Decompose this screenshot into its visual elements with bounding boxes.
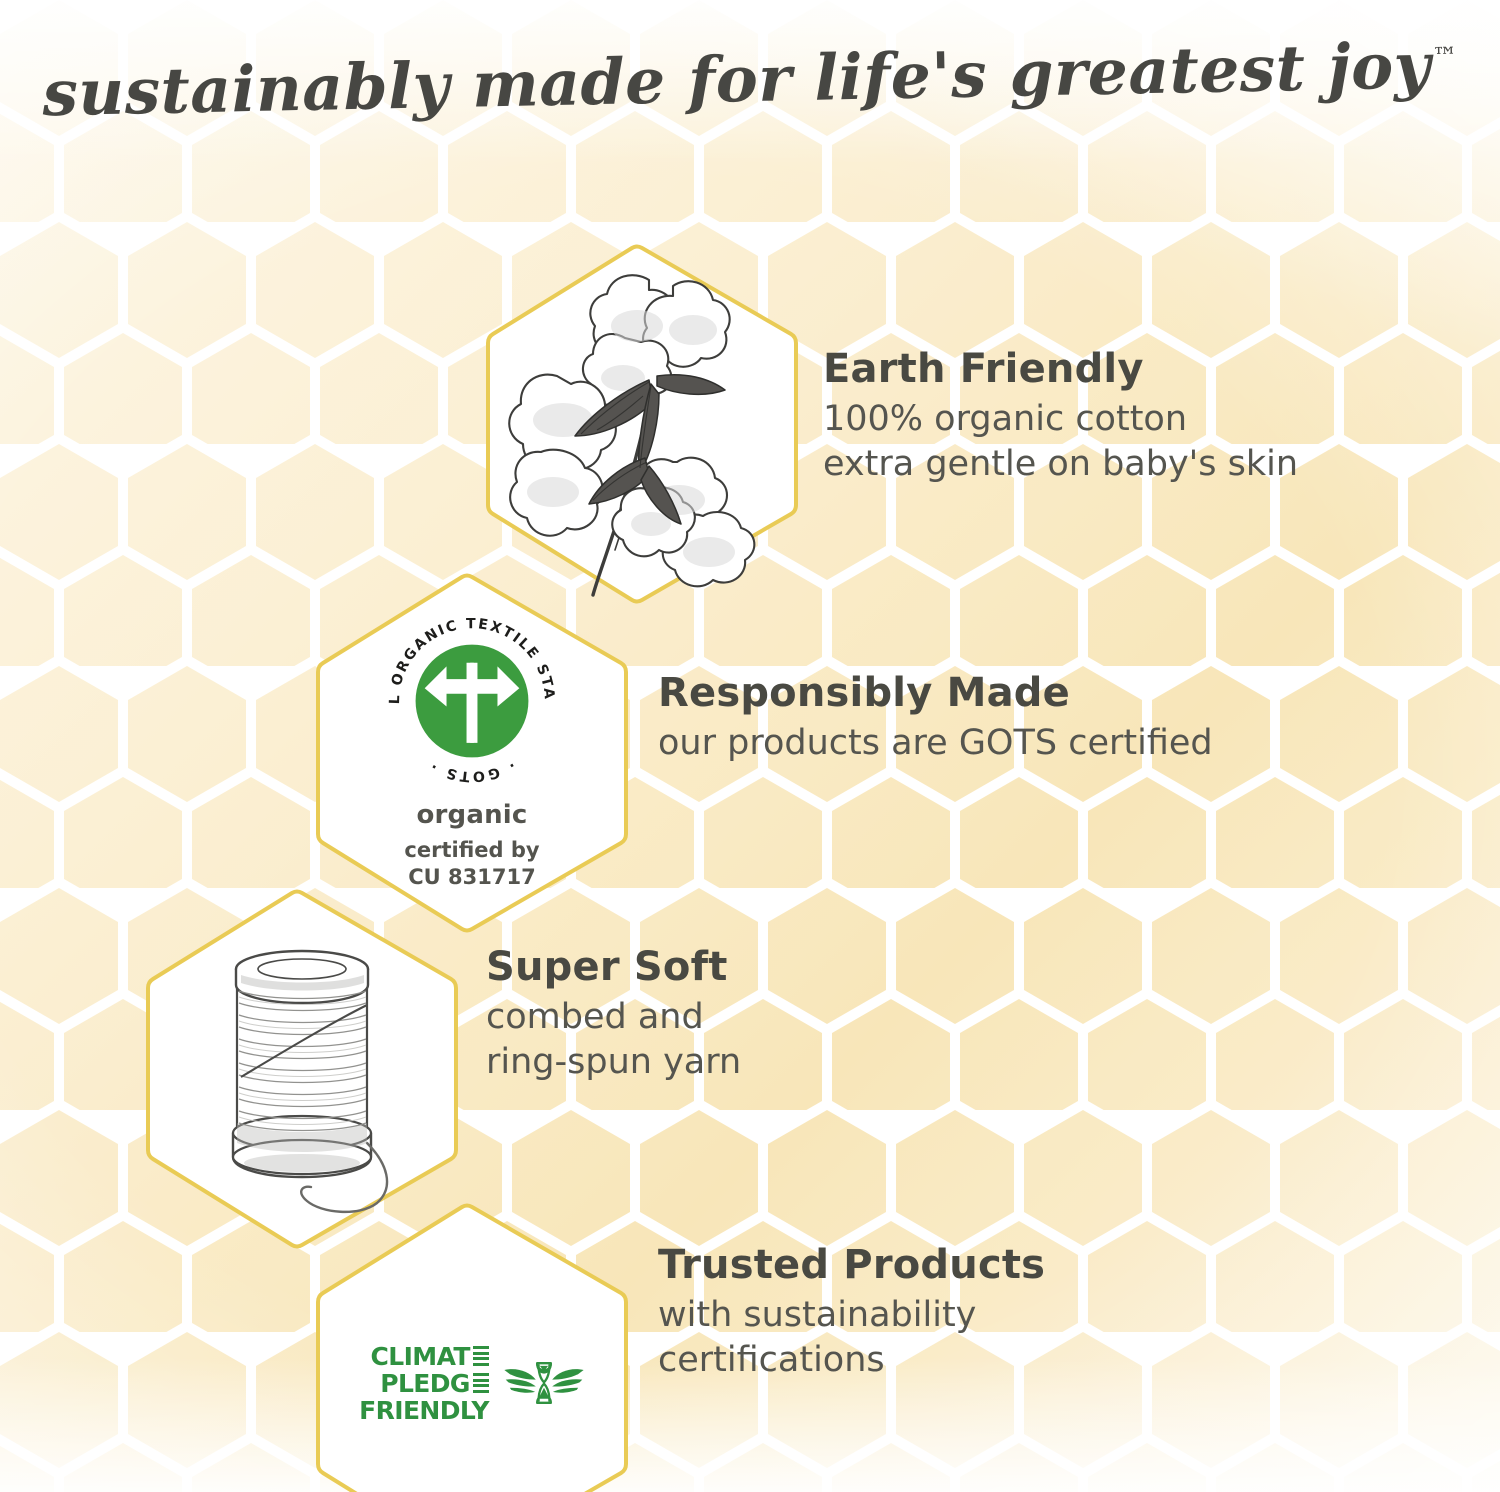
cpf-bars-icon [473,1346,489,1366]
climate-pledge-wordmark: CLIMAT PLEDG FRIENDLY [359,1344,489,1423]
feature-subtitle-line: certifications [658,1338,1045,1383]
climate-pledge-friendly-logo: CLIMAT PLEDG FRIENDLY [359,1344,585,1423]
feature-subtitle-line: our products are GOTS certified [658,721,1213,766]
cpf-word-climate: CLIMAT [371,1344,470,1369]
feature-copy-earth-friendly: Earth Friendly 100% organic cotton extra… [823,348,1298,487]
cotton-branch-icon [497,252,787,597]
cpf-bars-icon [473,1373,489,1393]
feature-title: Trusted Products [658,1244,1045,1287]
feature-subtitle-line: extra gentle on baby's skin [823,442,1298,487]
gots-organic-label: organic [416,800,527,830]
feature-title: Responsibly Made [658,672,1213,715]
hexagon-frame-cotton [483,243,801,605]
gots-certifier-code: CU 831717 [404,864,539,890]
winged-hourglass-icon [503,1352,585,1414]
feature-copy-responsibly-made: Responsibly Made our products are GOTS c… [658,672,1213,766]
svg-text:· GOTS ·: · GOTS · [426,757,518,785]
spool-illustration-holder [143,888,461,1250]
thread-spool-icon [171,919,433,1219]
climate-pledge-holder: CLIMAT PLEDG FRIENDLY [313,1202,631,1492]
hexagon-frame-climate-pledge: CLIMAT PLEDG FRIENDLY [313,1202,631,1492]
promotional-graphic: sustainably made for life's greatest joy… [0,0,1500,1492]
gots-certified-by-label: certified by [404,837,539,863]
cpf-word-friendly: FRIENDLY [359,1398,489,1423]
feature-title: Earth Friendly [823,348,1298,391]
gots-logo-icon: GLOBAL ORGANIC TEXTILE STANDARD · GOTS · [381,610,563,792]
hexagon-frame-spool [143,888,461,1250]
feature-subtitle-line: combed and [486,995,741,1040]
feature-subtitle: 100% organic cotton extra gentle on baby… [823,397,1298,487]
feature-copy-trusted-products: Trusted Products with sustainability cer… [658,1244,1045,1383]
feature-subtitle: with sustainability certifications [658,1293,1045,1383]
hexagon-frame-gots: GLOBAL ORGANIC TEXTILE STANDARD · GOTS ·… [313,572,631,934]
gots-badge-holder: GLOBAL ORGANIC TEXTILE STANDARD · GOTS ·… [313,572,631,934]
climate-pledge-line-3: FRIENDLY [359,1398,489,1423]
cpf-word-pledge: PLEDG [380,1371,470,1396]
feature-subtitle: our products are GOTS certified [658,721,1213,766]
feature-subtitle-line: ring-spun yarn [486,1040,741,1085]
gots-badge: GLOBAL ORGANIC TEXTILE STANDARD · GOTS ·… [381,610,563,889]
climate-pledge-line-1: CLIMAT [359,1344,489,1369]
trademark-symbol: ™ [1432,42,1458,71]
cotton-illustration-holder [483,243,801,605]
feature-title: Super Soft [486,946,741,989]
feature-subtitle: combed and ring-spun yarn [486,995,741,1085]
gots-ring-text-bottom: · GOTS · [426,757,518,785]
climate-pledge-line-2: PLEDG [359,1371,489,1396]
feature-copy-super-soft: Super Soft combed and ring-spun yarn [486,946,741,1085]
feature-subtitle-line: 100% organic cotton [823,397,1298,442]
feature-subtitle-line: with sustainability [658,1293,1045,1338]
gots-certified-by: certified by CU 831717 [404,837,539,889]
